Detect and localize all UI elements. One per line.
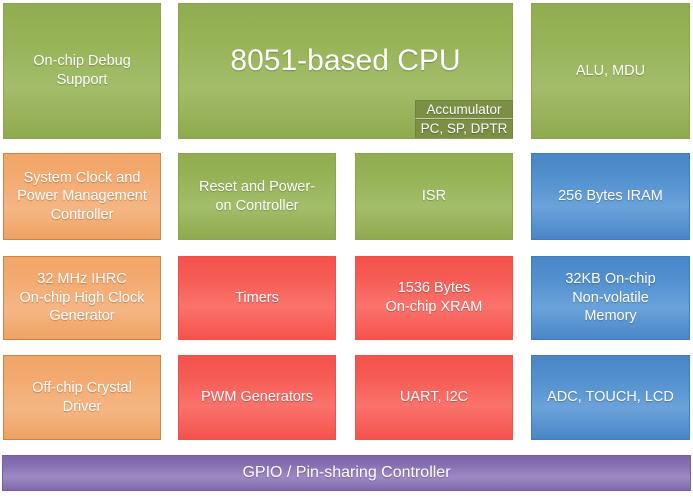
block-label: ISR [416, 187, 452, 206]
block-label: Off-chip Crystal Driver [26, 379, 138, 416]
block-adc-touch-lcd[interactable]: ADC, TOUCH, LCD [531, 355, 690, 440]
cpu-register-label: Accumulator [426, 101, 501, 118]
block-on-chip-debug-support[interactable]: On-chip Debug Support [3, 3, 161, 139]
block-label: GPIO / Pin-sharing Controller [236, 463, 456, 483]
block-1536-bytes-on-chip-xram[interactable]: 1536 Bytes On-chip XRAM [355, 256, 513, 340]
block-label: Reset and Power- on Controller [193, 178, 321, 215]
block-alu-mdu[interactable]: ALU, MDU [531, 3, 690, 139]
block-timers[interactable]: Timers [178, 256, 336, 340]
block-label: ALU, MDU [570, 62, 651, 81]
cpu-register-group: Accumulator PC, SP, DPTR [415, 100, 513, 138]
block-label: 32KB On-chip Non-volatile Memory [559, 270, 661, 326]
cpu-register-accumulator[interactable]: Accumulator [415, 100, 513, 119]
block-label: Timers [229, 289, 285, 308]
block-diagram: On-chip Debug Support 8051-based CPU Acc… [0, 0, 693, 497]
cpu-register-label: PC, SP, DPTR [421, 120, 508, 137]
block-label: 8051-based CPU [179, 42, 512, 80]
block-off-chip-crystal-driver[interactable]: Off-chip Crystal Driver [3, 355, 161, 440]
block-gpio-pin-sharing-controller[interactable]: GPIO / Pin-sharing Controller [2, 455, 691, 491]
block-system-clock-and-power-management-controller[interactable]: System Clock and Power Management Contro… [3, 153, 161, 240]
block-32mhz-ihrc-on-chip-high-clock-generator[interactable]: 32 MHz IHRC On-chip High Clock Generator [3, 256, 161, 340]
block-label: 32 MHz IHRC On-chip High Clock Generator [14, 270, 151, 326]
block-label: 256 Bytes IRAM [552, 187, 669, 206]
block-label: On-chip Debug Support [27, 52, 137, 89]
block-256-bytes-iram[interactable]: 256 Bytes IRAM [531, 153, 690, 240]
cpu-register-pointers[interactable]: PC, SP, DPTR [415, 119, 513, 138]
block-32kb-on-chip-non-volatile-memory[interactable]: 32KB On-chip Non-volatile Memory [531, 256, 690, 340]
block-pwm-generators[interactable]: PWM Generators [178, 355, 336, 440]
block-isr[interactable]: ISR [355, 153, 513, 240]
block-label: PWM Generators [195, 388, 319, 407]
block-label: 1536 Bytes On-chip XRAM [380, 279, 489, 316]
block-reset-and-power-on-controller[interactable]: Reset and Power- on Controller [178, 153, 336, 240]
block-label: System Clock and Power Management Contro… [11, 169, 153, 225]
block-uart-i2c[interactable]: UART, I2C [355, 355, 513, 440]
block-label: UART, I2C [394, 388, 474, 407]
block-8051-based-cpu[interactable]: 8051-based CPU Accumulator PC, SP, DPTR [178, 3, 513, 139]
block-label: ADC, TOUCH, LCD [541, 388, 680, 407]
